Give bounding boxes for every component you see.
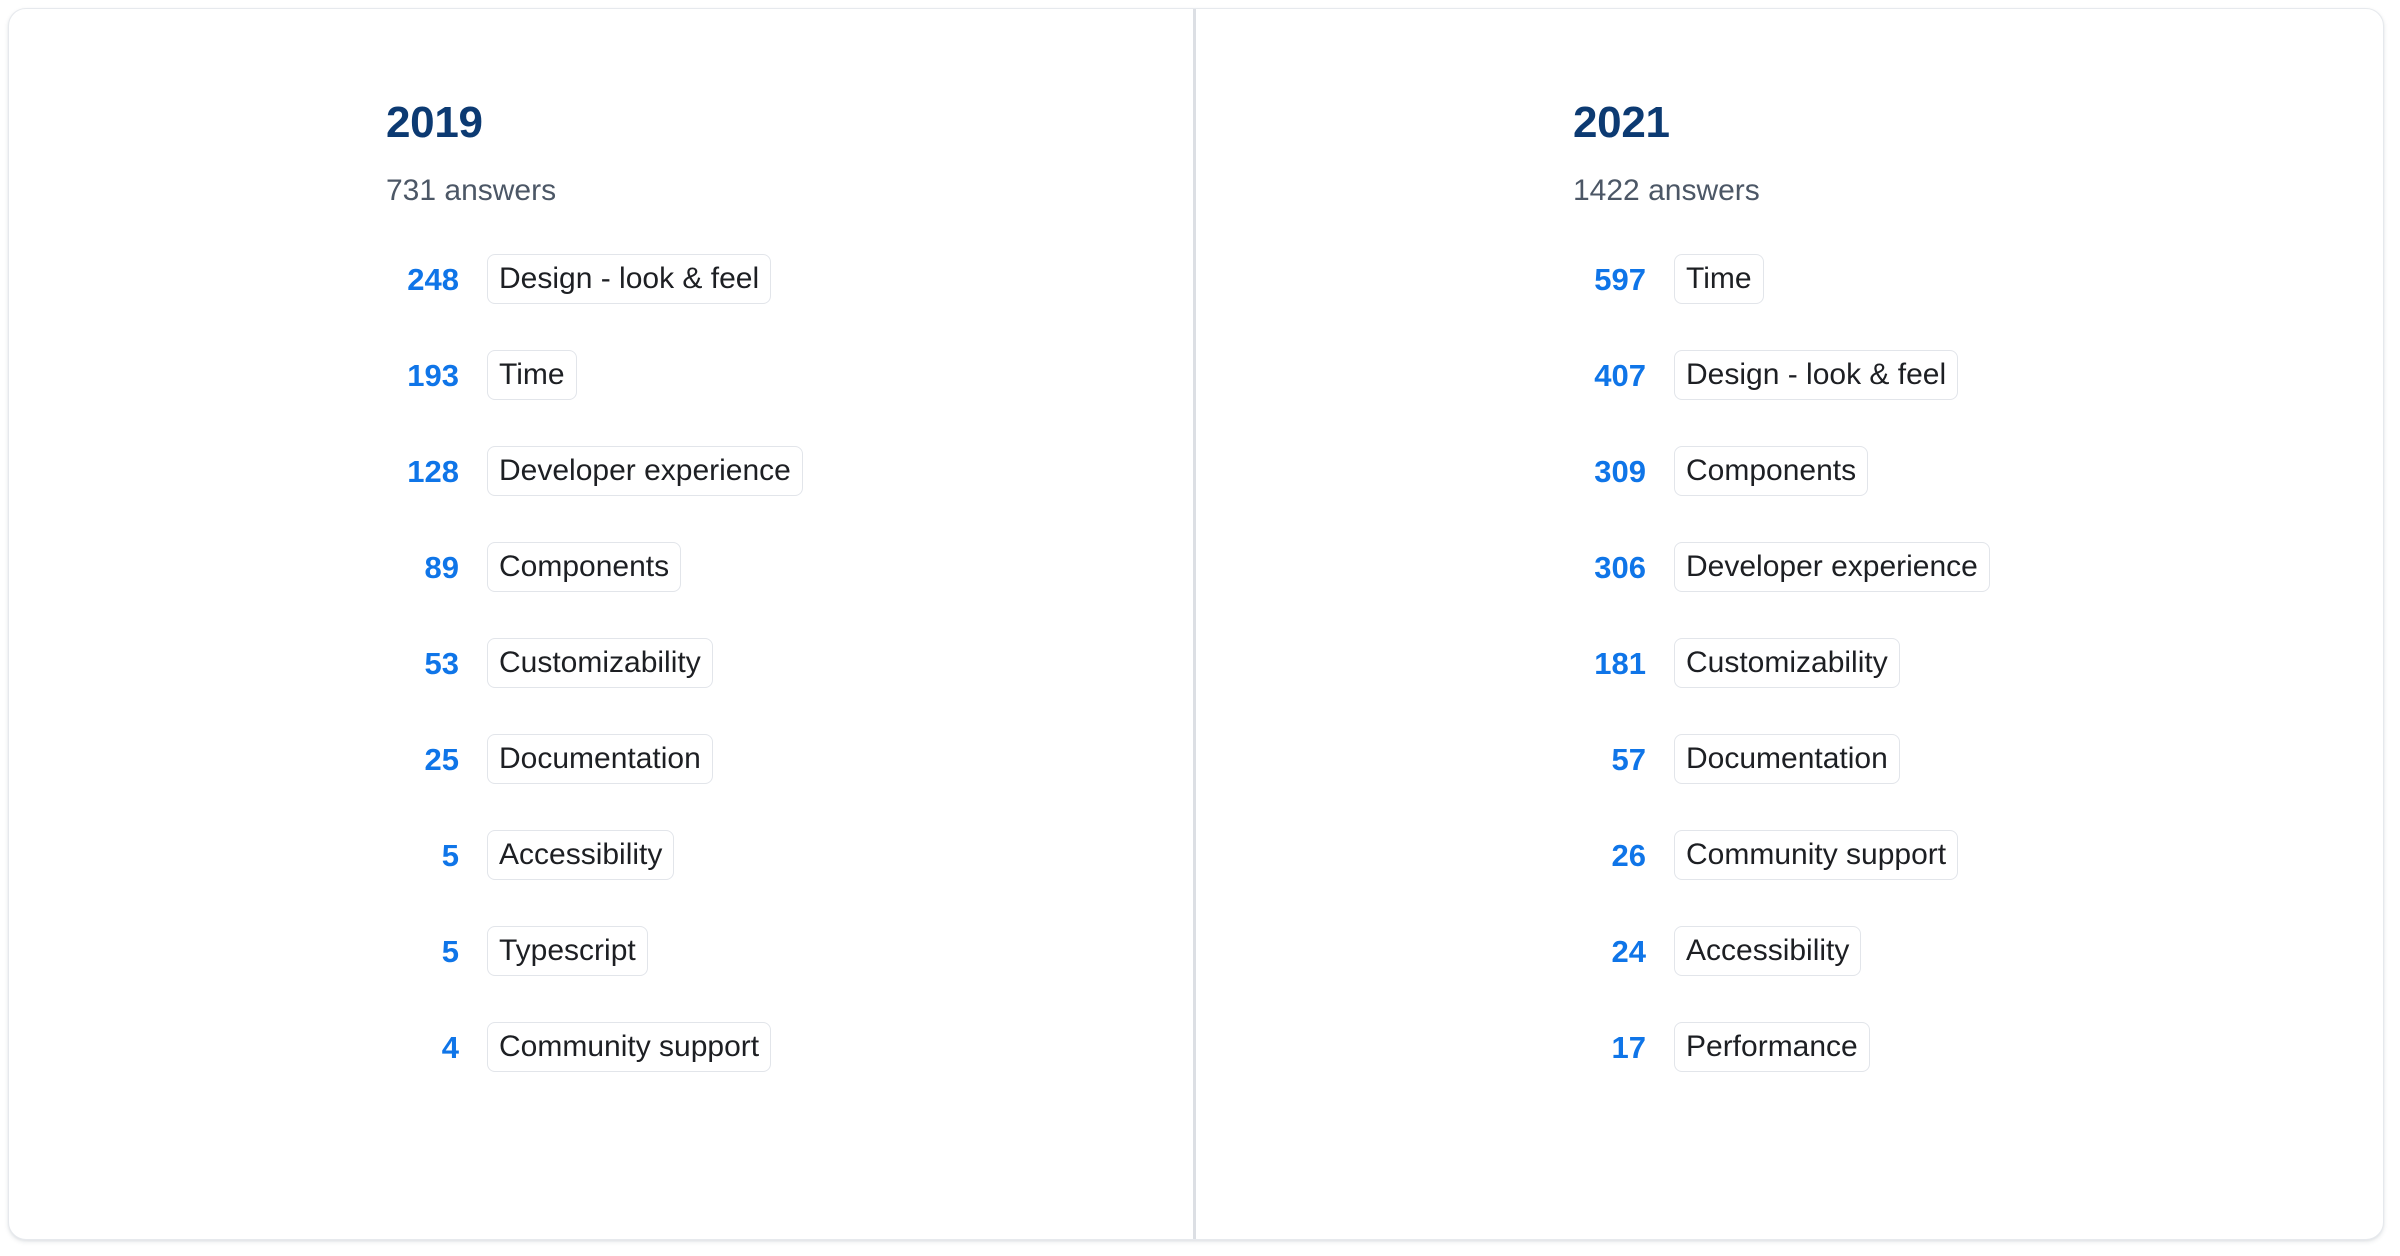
answer-list: 248 Design - look & feel 193 Time 128 De… (386, 254, 1196, 1072)
list-item[interactable]: 181 Customizability (1573, 638, 2383, 688)
list-item[interactable]: 128 Developer experience (386, 446, 1196, 496)
answer-label-pill[interactable]: Documentation (487, 734, 713, 784)
answer-label-pill[interactable]: Components (1674, 446, 1868, 496)
year-heading: 2021 (1573, 101, 2383, 147)
list-item[interactable]: 5 Accessibility (386, 830, 1196, 880)
answer-label-pill[interactable]: Developer experience (487, 446, 803, 496)
answer-count: 193 (386, 360, 459, 391)
comparison-card: 2019 731 answers 248 Design - look & fee… (8, 8, 2384, 1240)
year-panel-2019: 2019 731 answers 248 Design - look & fee… (9, 9, 1196, 1239)
answers-count-label: 731 answers (386, 147, 1196, 207)
answer-count: 5 (386, 936, 459, 967)
answer-count: 5 (386, 840, 459, 871)
answer-count: 25 (386, 744, 459, 775)
list-item[interactable]: 26 Community support (1573, 830, 2383, 880)
answer-count: 128 (386, 456, 459, 487)
answer-label-pill[interactable]: Community support (1674, 830, 1958, 880)
answer-count: 57 (1573, 744, 1646, 775)
answer-label-pill[interactable]: Time (487, 350, 577, 400)
answer-count: 4 (386, 1032, 459, 1063)
answer-count: 89 (386, 552, 459, 583)
year-heading: 2019 (386, 101, 1196, 147)
list-item[interactable]: 597 Time (1573, 254, 2383, 304)
answer-label-pill[interactable]: Accessibility (487, 830, 674, 880)
answer-count: 407 (1573, 360, 1646, 391)
answer-count: 309 (1573, 456, 1646, 487)
year-panel-2021: 2021 1422 answers 597 Time 407 Design - … (1196, 9, 2383, 1239)
list-item[interactable]: 248 Design - look & feel (386, 254, 1196, 304)
list-item[interactable]: 89 Components (386, 542, 1196, 592)
list-item[interactable]: 193 Time (386, 350, 1196, 400)
answer-count: 24 (1573, 936, 1646, 967)
answer-label-pill[interactable]: Performance (1674, 1022, 1870, 1072)
list-item[interactable]: 407 Design - look & feel (1573, 350, 2383, 400)
list-item[interactable]: 17 Performance (1573, 1022, 2383, 1072)
answer-label-pill[interactable]: Developer experience (1674, 542, 1990, 592)
answer-count: 181 (1573, 648, 1646, 679)
list-item[interactable]: 309 Components (1573, 446, 2383, 496)
answer-label-pill[interactable]: Community support (487, 1022, 771, 1072)
list-item[interactable]: 53 Customizability (386, 638, 1196, 688)
answer-label-pill[interactable]: Accessibility (1674, 926, 1861, 976)
list-item[interactable]: 5 Typescript (386, 926, 1196, 976)
answers-count-label: 1422 answers (1573, 147, 2383, 207)
answer-count: 17 (1573, 1032, 1646, 1063)
list-item[interactable]: 24 Accessibility (1573, 926, 2383, 976)
answer-count: 53 (386, 648, 459, 679)
answer-label-pill[interactable]: Components (487, 542, 681, 592)
list-item[interactable]: 4 Community support (386, 1022, 1196, 1072)
answer-count: 306 (1573, 552, 1646, 583)
answer-list: 597 Time 407 Design - look & feel 309 Co… (1573, 254, 2383, 1072)
answer-count: 26 (1573, 840, 1646, 871)
answer-label-pill[interactable]: Customizability (1674, 638, 1900, 688)
answer-label-pill[interactable]: Customizability (487, 638, 713, 688)
answer-label-pill[interactable]: Design - look & feel (1674, 350, 1958, 400)
answer-label-pill[interactable]: Typescript (487, 926, 648, 976)
answer-count: 597 (1573, 264, 1646, 295)
list-item[interactable]: 57 Documentation (1573, 734, 2383, 784)
answer-label-pill[interactable]: Documentation (1674, 734, 1900, 784)
answer-label-pill[interactable]: Design - look & feel (487, 254, 771, 304)
list-item[interactable]: 306 Developer experience (1573, 542, 2383, 592)
list-item[interactable]: 25 Documentation (386, 734, 1196, 784)
answer-label-pill[interactable]: Time (1674, 254, 1764, 304)
answer-count: 248 (386, 264, 459, 295)
